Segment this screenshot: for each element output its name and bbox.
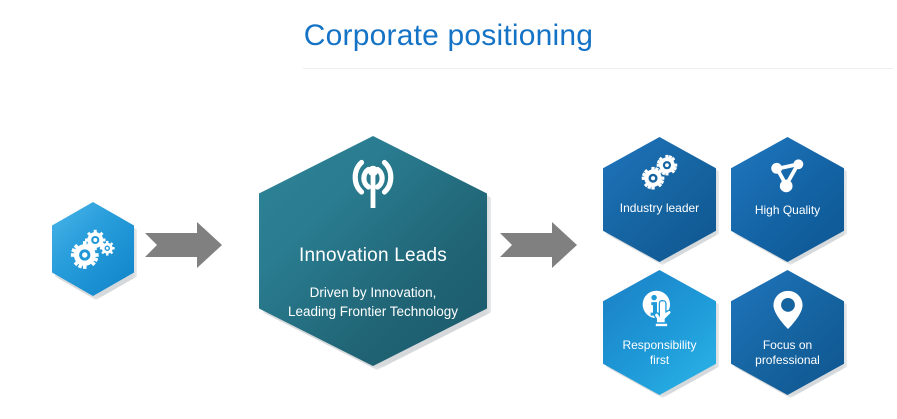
center-subtitle-line-1: Driven by Innovation, xyxy=(268,283,478,302)
outcome-label-line-1: Focus on xyxy=(738,338,838,353)
outcome-label: Industry leader xyxy=(610,201,710,216)
outcome-label: High Quality xyxy=(738,203,838,218)
outcome-label-line-1: High Quality xyxy=(738,203,838,218)
outcome-label-line-2: first xyxy=(610,353,710,368)
gears-icon xyxy=(69,225,117,273)
title-divider xyxy=(303,68,893,69)
arrow-center-to-outcomes xyxy=(500,221,578,274)
center-subtitle-line-2: Leading Frontier Technology xyxy=(268,302,478,321)
page-title: Corporate positioning xyxy=(0,18,897,54)
center-icon-wrap xyxy=(339,154,407,223)
slide-canvas: Corporate positioning xyxy=(0,0,897,419)
broadcast-signal-icon xyxy=(339,154,407,218)
outcome-label-line-1: Industry leader xyxy=(610,201,710,216)
center-subtitle: Driven by Innovation, Leading Frontier T… xyxy=(268,283,478,321)
outcome-label-line-2: professional xyxy=(738,353,838,368)
outcome-label: Focus on professional xyxy=(738,338,838,368)
center-heading: Innovation Leads xyxy=(299,245,447,267)
map-pin-icon xyxy=(772,290,804,330)
gears-icon xyxy=(637,153,683,193)
network-nodes-icon xyxy=(768,157,808,195)
info-hand-icon xyxy=(638,288,682,330)
outcome-label: Responsibility first xyxy=(610,338,710,368)
outcome-label-line-1: Responsibility xyxy=(610,338,710,353)
title-block: Corporate positioning xyxy=(0,18,897,54)
arrow-source-to-center xyxy=(145,221,223,274)
